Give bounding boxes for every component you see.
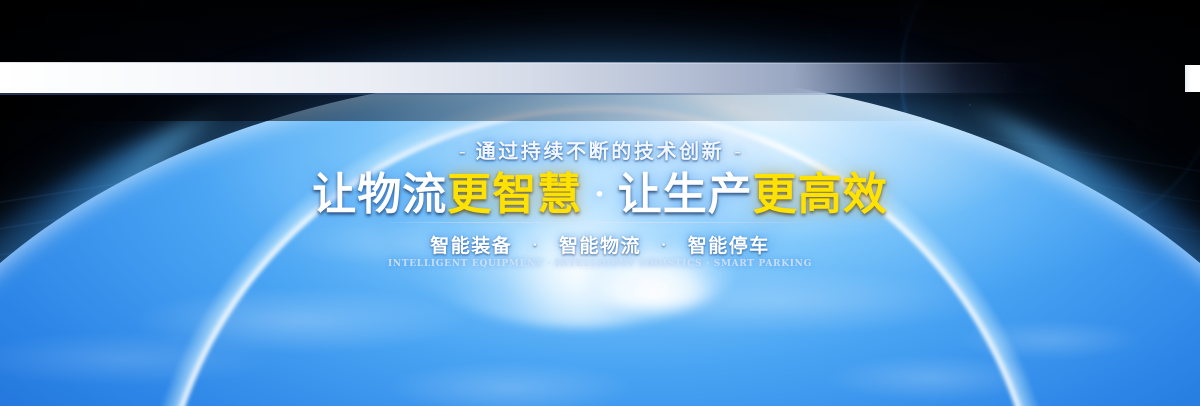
service-item-parking: 智能停车 [688, 235, 770, 257]
services-list: 智能装备·智能物流·智能停车 [0, 231, 1200, 258]
headline-separator: · [582, 177, 617, 212]
headline-part-2: 更智慧 [447, 169, 582, 220]
service-separator-2: · [641, 236, 688, 254]
tagline-dash-left: - [449, 139, 476, 163]
tagline: -通过持续不断的技术创新- [0, 135, 1200, 164]
hero-banner: -通过持续不断的技术创新- 让物流更智慧·让生产更高效 智能装备·智能物流·智能… [0, 0, 1200, 406]
tagline-dash-right: - [724, 139, 751, 163]
service-item-equipment: 智能装备 [430, 235, 512, 257]
tagline-text: 通过持续不断的技术创新 [476, 139, 725, 163]
headline: 让物流更智慧·让生产更高效 [0, 170, 1200, 220]
service-item-logistics: 智能物流 [559, 235, 641, 257]
headline-part-1: 让物流 [312, 169, 447, 220]
headline-part-3: 让生产 [618, 169, 753, 220]
headline-part-4: 更高效 [753, 169, 888, 220]
service-separator-1: · [512, 236, 559, 254]
services-english-subtitle: INTELLIGENT EQUIPMENT · INTELLIGENT LOGI… [0, 259, 1200, 269]
banner-content: -通过持续不断的技术创新- 让物流更智慧·让生产更高效 智能装备·智能物流·智能… [0, 0, 1200, 406]
divider-line [378, 222, 824, 223]
